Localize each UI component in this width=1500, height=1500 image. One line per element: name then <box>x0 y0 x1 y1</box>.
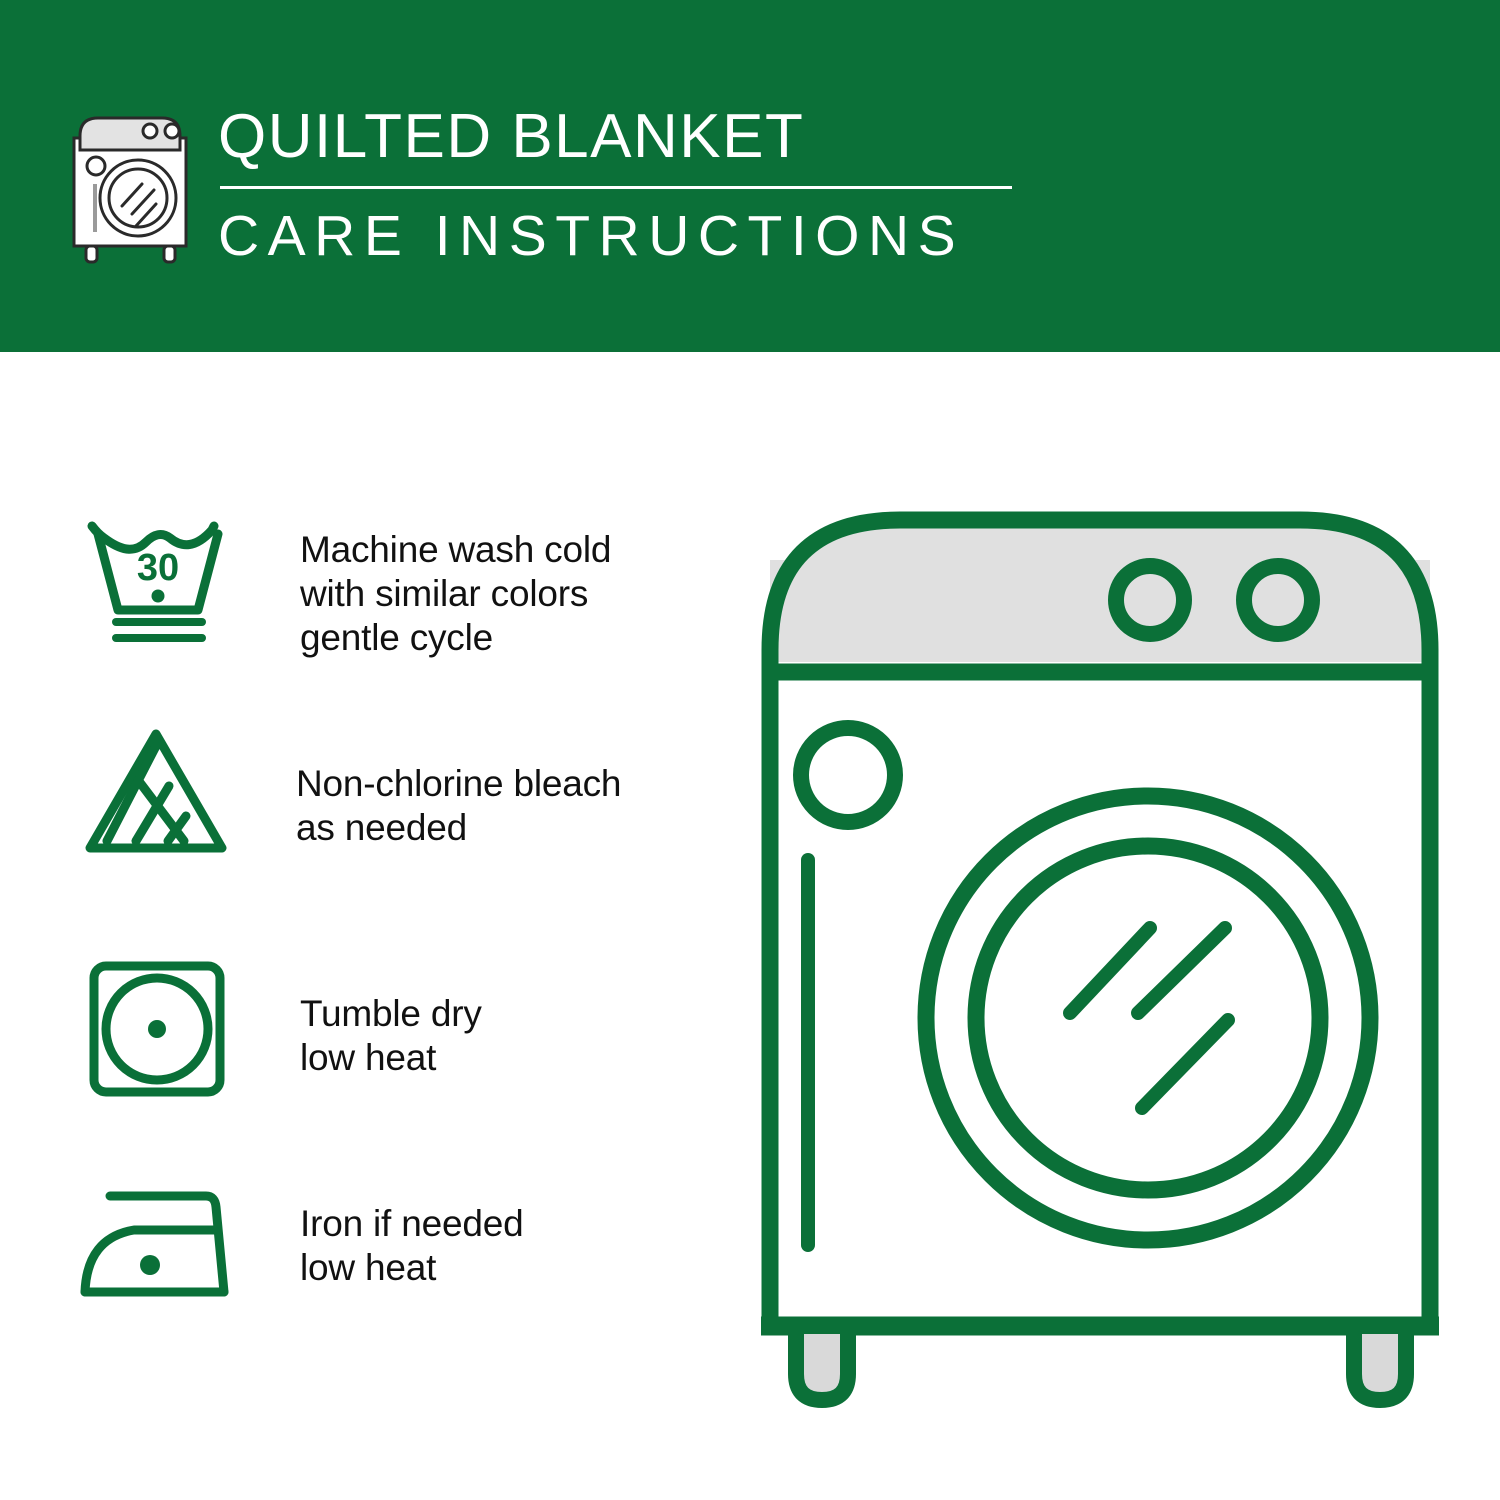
care-row-bleach: Non-chlorine bleach as needed <box>74 720 714 860</box>
washing-machine-icon <box>62 106 202 266</box>
non-chlorine-bleach-triangle-icon <box>74 720 244 860</box>
care-text-bleach: Non-chlorine bleach as needed <box>244 720 621 850</box>
header-title-block: QUILTED BLANKET CARE INSTRUCTIONS <box>218 100 1018 269</box>
door-inner-ring <box>976 846 1320 1190</box>
machine-leg-right <box>1354 1334 1406 1400</box>
machine-leg-left <box>796 1334 848 1400</box>
title-divider <box>220 186 1012 189</box>
care-row-tumble-dry: Tumble dry low heat <box>74 960 714 1100</box>
care-row-iron: Iron if needed low heat <box>74 1180 714 1305</box>
door-slash-group <box>1070 928 1228 1108</box>
indicator-circle <box>801 728 895 822</box>
care-text-machine-wash: Machine wash cold with similar colors ge… <box>244 508 611 660</box>
control-panel-fill <box>770 560 1430 662</box>
page-subtitle: CARE INSTRUCTIONS <box>218 203 1018 269</box>
care-text-iron: Iron if needed low heat <box>244 1180 523 1290</box>
door-outer-ring <box>926 796 1370 1240</box>
wash-tub-30-gentle-icon: 30 <box>74 508 244 648</box>
care-row-machine-wash: 30 Machine wash cold with similar colors… <box>74 508 714 660</box>
wash-temperature-label: 30 <box>137 547 179 589</box>
front-load-washing-machine-illustration <box>750 500 1450 1410</box>
tumble-dry-low-icon <box>74 960 244 1100</box>
care-text-tumble-dry: Tumble dry low heat <box>244 960 482 1080</box>
iron-low-heat-icon <box>74 1180 244 1305</box>
header-banner: QUILTED BLANKET CARE INSTRUCTIONS <box>0 0 1500 352</box>
page-title: QUILTED BLANKET <box>218 100 1018 174</box>
